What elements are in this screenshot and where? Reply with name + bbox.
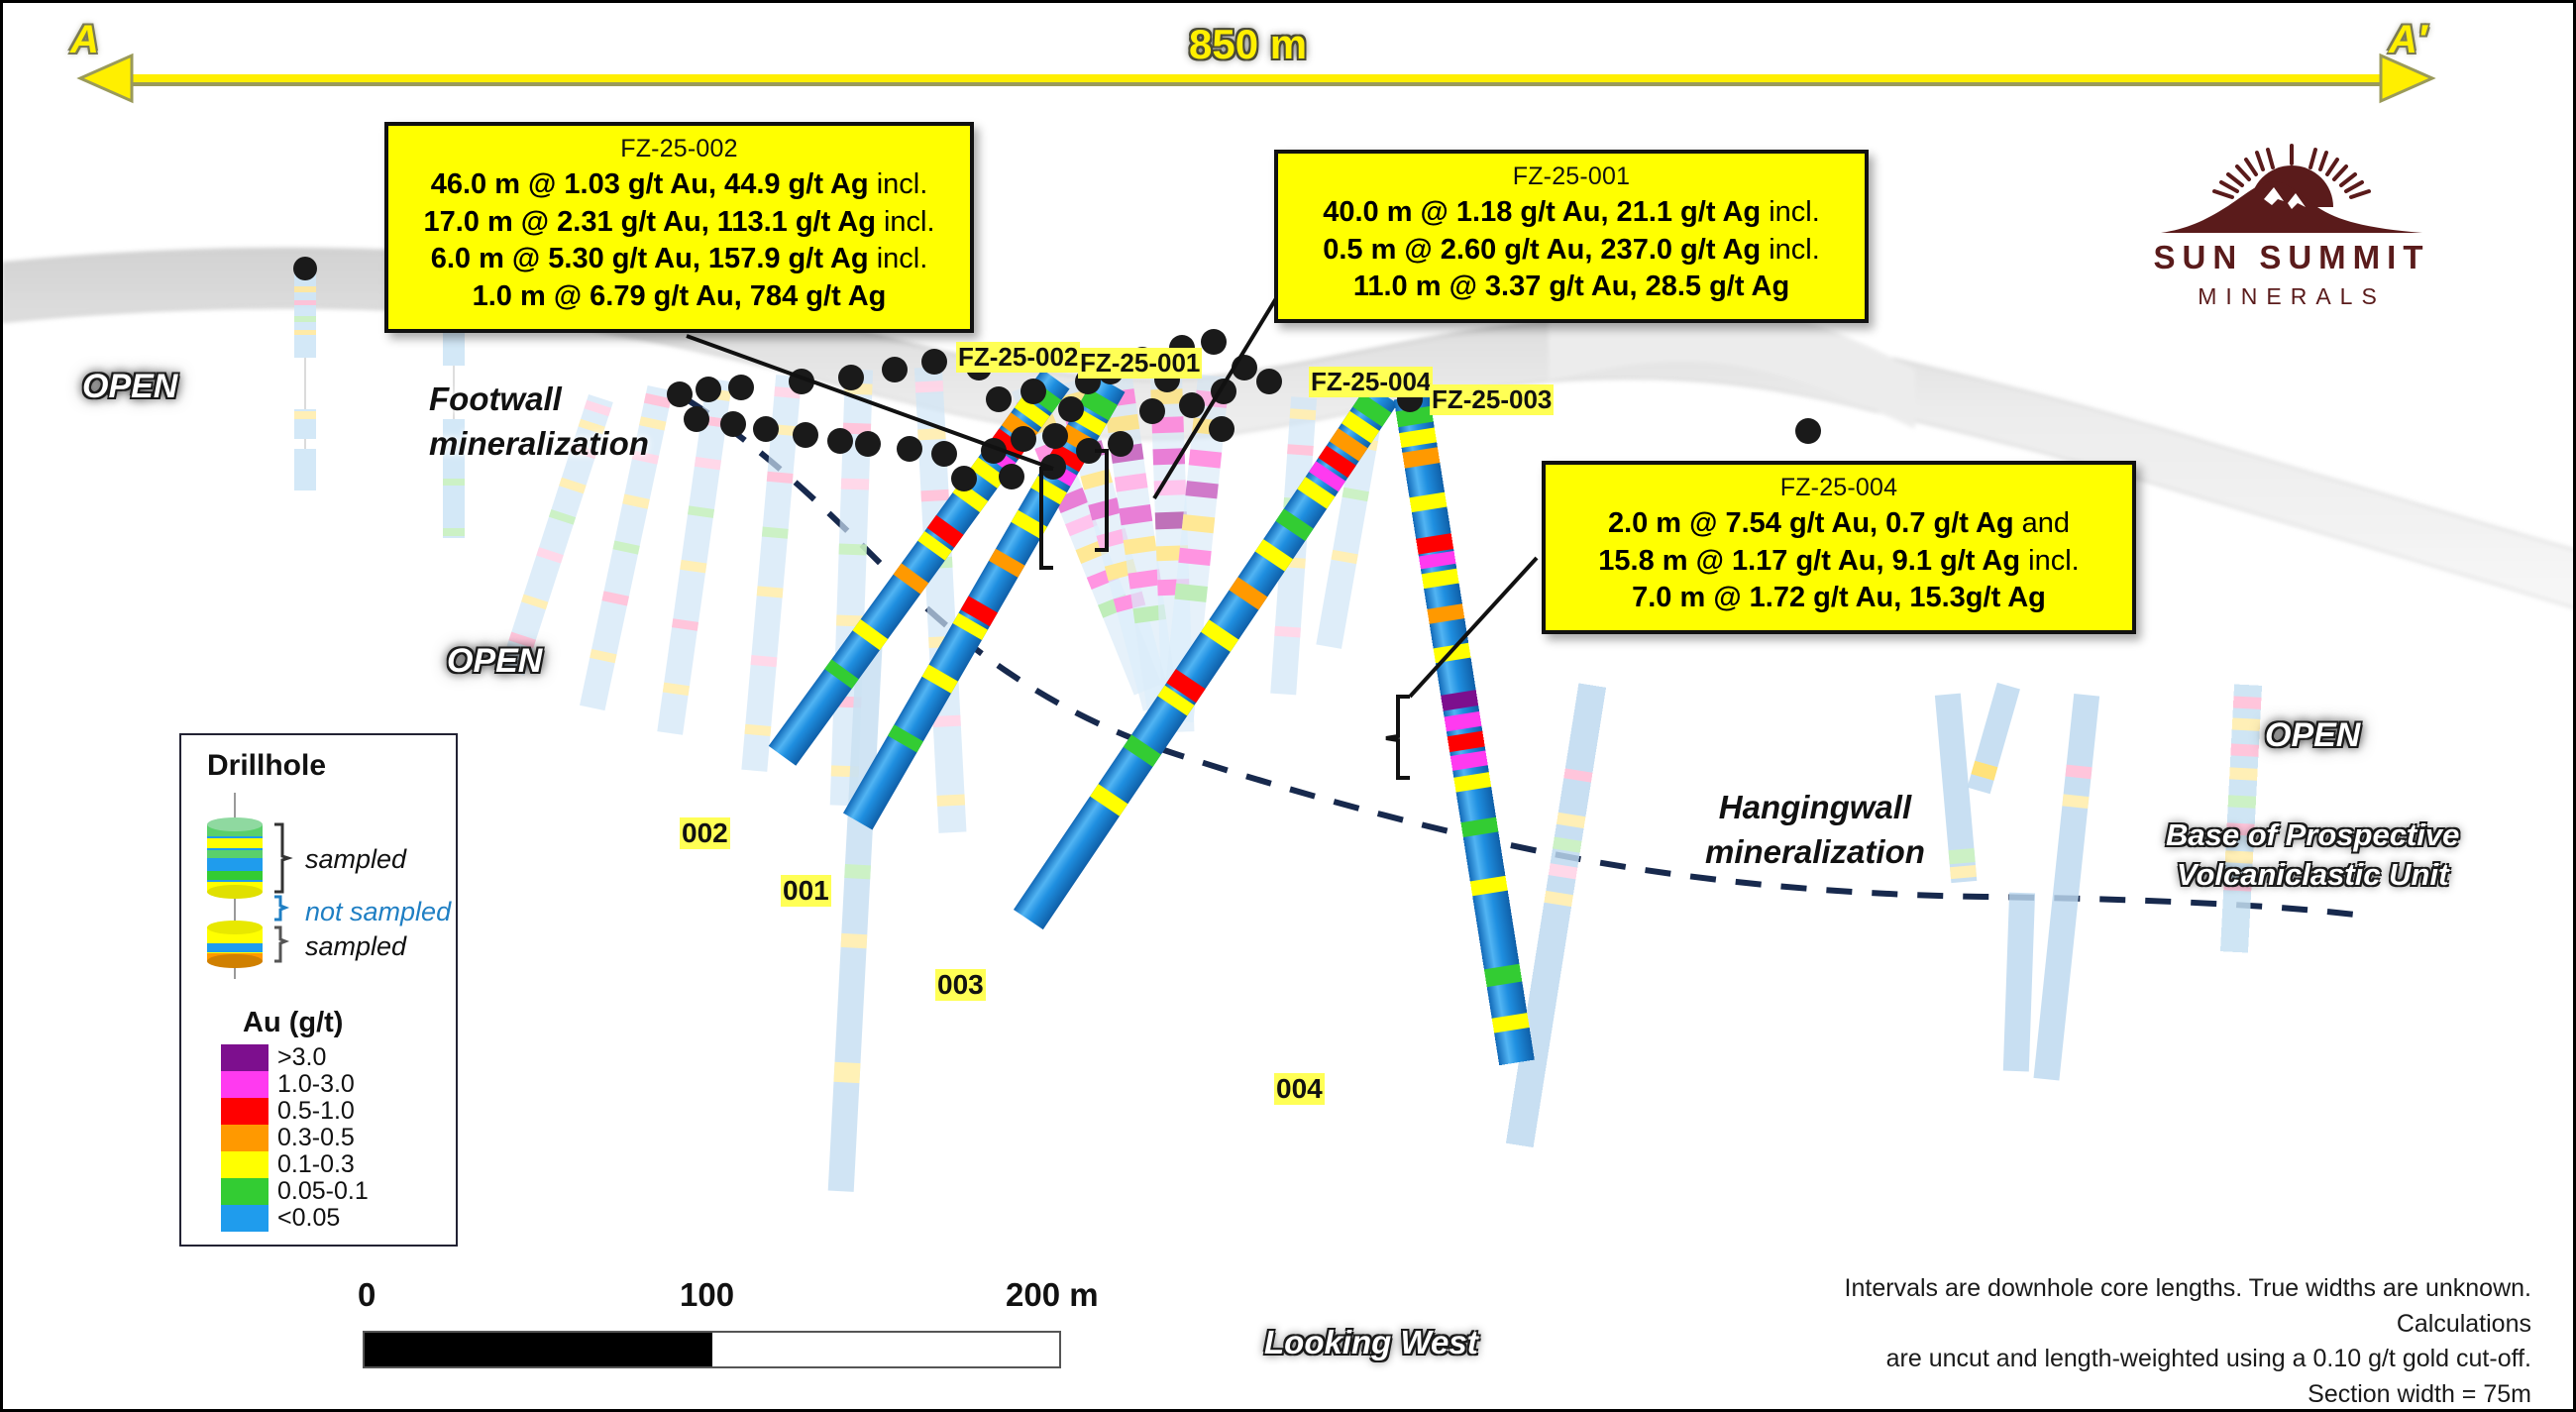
view-direction-label: Looking West xyxy=(1264,1324,1478,1361)
callout-line: 1.0 m @ 6.79 g/t Au, 784 g/t Ag xyxy=(404,278,954,316)
legend-class-row: 0.05-0.1 xyxy=(221,1178,369,1205)
toe-label-004: 004 xyxy=(1274,1073,1325,1105)
legend-class-label: >3.0 xyxy=(277,1043,326,1072)
collar-label-fz-25-003: FZ-25-003 xyxy=(1430,384,1554,415)
drillhole-FZ-25-004 xyxy=(1394,394,1535,1065)
open-label-left: OPEN xyxy=(82,368,177,406)
open-label-right: OPEN xyxy=(2265,716,2360,755)
cross-section-figure: A A′ 850 m FZ-25-002 46.0 m @ 1.03 g/t A… xyxy=(0,0,2576,1412)
legend-au-title: Au (g/t) xyxy=(243,1007,343,1039)
callout-fz-25-002[interactable]: FZ-25-002 46.0 m @ 1.03 g/t Au, 44.9 g/t… xyxy=(384,122,974,333)
callout-line: 2.0 m @ 7.54 g/t Au, 0.7 g/t Ag and xyxy=(1561,505,2116,543)
section-marker-a: A xyxy=(70,18,99,62)
company-logo: SUN SUMMIT MINERALS xyxy=(2103,142,2480,310)
callout-line: 17.0 m @ 2.31 g/t Au, 113.1 g/t Ag incl. xyxy=(404,204,954,242)
open-label-mid: OPEN xyxy=(447,642,542,681)
section-length-label: 850 m xyxy=(1189,21,1307,68)
toe-label-001: 001 xyxy=(781,875,831,907)
callout-line: 46.0 m @ 1.03 g/t Au, 44.9 g/t Ag incl. xyxy=(404,166,954,204)
disclaimer-text: Intervals are downhole core lengths. Tru… xyxy=(1778,1271,2531,1412)
toe-label-002: 002 xyxy=(680,817,730,849)
legend-class-label: 0.05-0.1 xyxy=(277,1177,369,1206)
legend-panel: Drillhole sampled not sampled xyxy=(179,733,458,1247)
legend-swatch xyxy=(221,1205,268,1232)
scale-tick-0: 0 xyxy=(358,1276,376,1314)
callout-line: 0.5 m @ 2.60 g/t Au, 237.0 g/t Ag incl. xyxy=(1294,232,1849,270)
scale-tick-100: 100 xyxy=(680,1276,734,1314)
disclaimer-line-2: are uncut and length-weighted using a 0.… xyxy=(1778,1342,2531,1377)
legend-title: Drillhole xyxy=(207,749,456,783)
footwall-mineralization-label: Footwall mineralization xyxy=(429,378,649,466)
callout-line: 6.0 m @ 5.30 g/t Au, 157.9 g/t Ag incl. xyxy=(404,241,954,278)
scale-bar-fill xyxy=(365,1333,712,1366)
toe-label-003: 003 xyxy=(935,969,986,1001)
logo-company-sub: MINERALS xyxy=(2103,283,2480,310)
legend-class-row: 0.3-0.5 xyxy=(221,1125,369,1151)
legend-class-row: <0.05 xyxy=(221,1205,369,1232)
legend-not-sampled: not sampled xyxy=(305,897,451,927)
callout-hole-id: FZ-25-004 xyxy=(1561,474,2116,502)
legend-sampled-top: sampled xyxy=(305,844,406,875)
legend-swatch xyxy=(221,1125,268,1151)
disclaimer-line-3: Section width = 75m xyxy=(1778,1377,2531,1412)
callout-line: 15.8 m @ 1.17 g/t Au, 9.1 g/t Ag incl. xyxy=(1561,543,2116,581)
callout-line: 40.0 m @ 1.18 g/t Au, 21.1 g/t Ag incl. xyxy=(1294,194,1849,232)
legend-class-label: 0.1-0.3 xyxy=(277,1150,355,1179)
callout-line: 7.0 m @ 1.72 g/t Au, 15.3g/t Ag xyxy=(1561,580,2116,617)
legend-class-label: 1.0-3.0 xyxy=(277,1070,355,1099)
callout-hole-id: FZ-25-001 xyxy=(1294,163,1849,191)
legend-sampled-bottom: sampled xyxy=(305,931,406,962)
legend-class-row: >3.0 xyxy=(221,1044,369,1071)
collar-label-fz-25-001: FZ-25-001 xyxy=(1078,348,1202,379)
callout-fz-25-004[interactable]: FZ-25-004 2.0 m @ 7.54 g/t Au, 0.7 g/t A… xyxy=(1542,461,2136,634)
legend-class-label: 0.3-0.5 xyxy=(277,1124,355,1152)
collar-label-fz-25-004: FZ-25-004 xyxy=(1309,367,1433,397)
legend-au-classes: >3.0 1.0-3.0 0.5-1.0 0.3-0.5 0.1-0.3 0.0… xyxy=(221,1044,369,1232)
disclaimer-line-1: Intervals are downhole core lengths. Tru… xyxy=(1778,1271,2531,1342)
scale-tick-200: 200 m xyxy=(1006,1276,1099,1314)
legend-class-row: 0.5-1.0 xyxy=(221,1098,369,1125)
hangingwall-mineralization-label: Hangingwall mineralization xyxy=(1705,786,1925,874)
logo-company-name: SUN SUMMIT xyxy=(2103,239,2480,276)
sun-summit-mountain-icon xyxy=(2143,142,2440,237)
base-prospective-unit-label: Base of Prospective Volcaniclastic Unit xyxy=(2166,815,2459,896)
callout-fz-25-001[interactable]: FZ-25-001 40.0 m @ 1.18 g/t Au, 21.1 g/t… xyxy=(1274,150,1869,323)
section-marker-a-prime: A′ xyxy=(2389,18,2426,62)
legend-swatch xyxy=(221,1044,268,1071)
legend-class-label: 0.5-1.0 xyxy=(277,1097,355,1126)
legend-swatch xyxy=(221,1098,268,1125)
legend-swatch xyxy=(221,1151,268,1178)
new-drillholes xyxy=(769,370,1535,1066)
legend-swatch xyxy=(221,1071,268,1098)
callout-hole-id: FZ-25-002 xyxy=(404,135,954,163)
legend-class-row: 1.0-3.0 xyxy=(221,1071,369,1098)
callout-line: 11.0 m @ 3.37 g/t Au, 28.5 g/t Ag xyxy=(1294,269,1849,306)
legend-swatch xyxy=(221,1178,268,1205)
collar-label-fz-25-002: FZ-25-002 xyxy=(956,342,1080,373)
legend-class-label: <0.05 xyxy=(277,1204,340,1233)
legend-class-row: 0.1-0.3 xyxy=(221,1151,369,1178)
scale-bar xyxy=(363,1331,1061,1368)
